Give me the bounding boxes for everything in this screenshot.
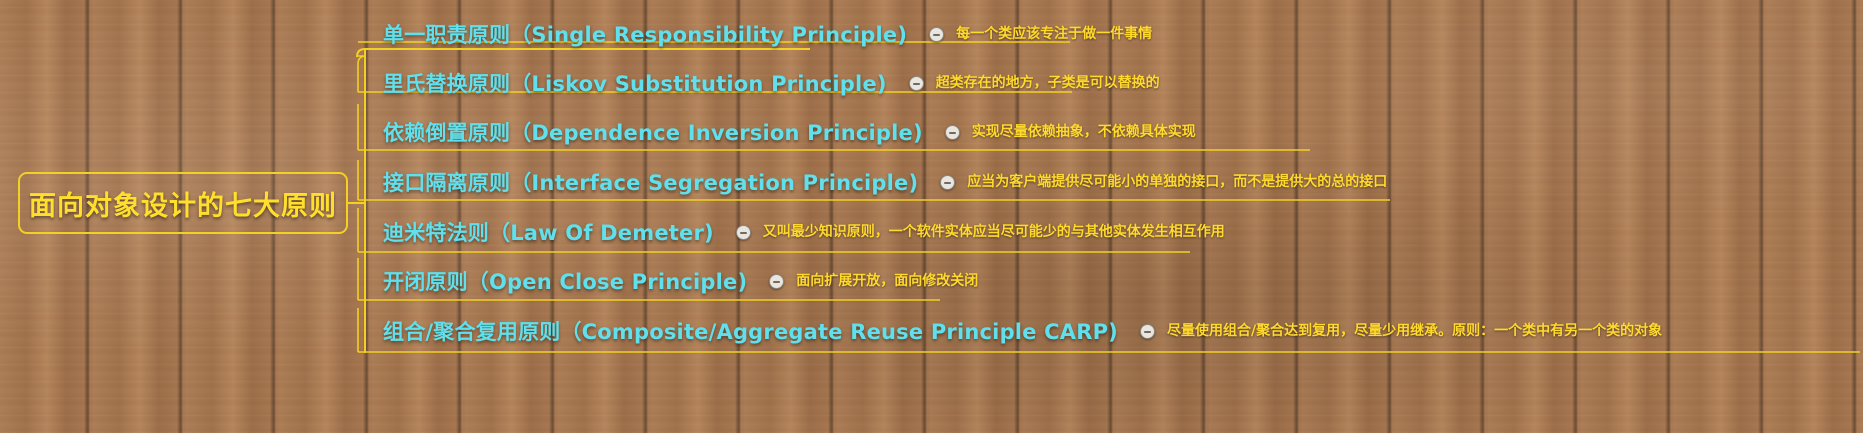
branch-label: 接口隔离原则（Interface Segregation Principle) [383, 167, 918, 197]
collapse-toggle-icon[interactable] [769, 274, 784, 289]
branch-description: 超类存在的地方，子类是可以替换的 [936, 72, 1160, 94]
branch-label: 组合/聚合复用原则（Composite/Aggregate Reuse Prin… [383, 316, 1118, 346]
root-node[interactable]: 面向对象设计的七大原则 [18, 172, 348, 234]
branch-dependence-inversion[interactable]: 依赖倒置原则（Dependence Inversion Principle) 实… [383, 112, 1196, 152]
branch-label: 迪米特法则（Law Of Demeter) [383, 217, 714, 247]
branch-interface-segregation[interactable]: 接口隔离原则（Interface Segregation Principle) … [383, 162, 1387, 202]
collapse-toggle-icon[interactable] [909, 76, 924, 91]
branch-description: 面向扩展开放，面向修改关闭 [796, 270, 978, 292]
branch-single-responsibility[interactable]: 单一职责原则（Single Responsibility Principle) … [383, 14, 1152, 54]
branch-label: 里氏替换原则（Liskov Substitution Principle) [383, 68, 887, 98]
branch-label: 依赖倒置原则（Dependence Inversion Principle) [383, 117, 923, 147]
branch-law-of-demeter[interactable]: 迪米特法则（Law Of Demeter) 又叫最少知识原则，一个软件实体应当尽… [383, 212, 1225, 252]
branch-description: 每一个类应该专注于做一件事情 [956, 23, 1152, 45]
collapse-toggle-icon[interactable] [736, 225, 751, 240]
collapse-toggle-icon[interactable] [1140, 324, 1155, 339]
collapse-toggle-icon[interactable] [945, 125, 960, 140]
branch-composite-aggregate-reuse[interactable]: 组合/聚合复用原则（Composite/Aggregate Reuse Prin… [383, 311, 1662, 351]
collapse-toggle-icon[interactable] [929, 27, 944, 42]
branch-description: 实现尽量依赖抽象，不依赖具体实现 [972, 121, 1196, 143]
branch-label: 开闭原则（Open Close Principle) [383, 266, 747, 296]
branch-liskov-substitution[interactable]: 里氏替换原则（Liskov Substitution Principle) 超类… [383, 63, 1160, 103]
collapse-toggle-icon[interactable] [940, 175, 955, 190]
mindmap-canvas: 面向对象设计的七大原则 单一职责原则（Single Responsibility… [0, 0, 1863, 433]
branch-description: 尽量使用组合/聚合达到复用，尽量少用继承。原则：一个类中有另一个类的对象 [1167, 320, 1662, 342]
branch-label: 单一职责原则（Single Responsibility Principle) [383, 19, 907, 49]
root-node-label: 面向对象设计的七大原则 [29, 184, 337, 223]
branch-open-close[interactable]: 开闭原则（Open Close Principle) 面向扩展开放，面向修改关闭 [383, 261, 978, 301]
branch-description: 应当为客户端提供尽可能小的单独的接口，而不是提供大的总的接口 [967, 171, 1387, 193]
branch-description: 又叫最少知识原则，一个软件实体应当尽可能少的与其他实体发生相互作用 [763, 221, 1225, 243]
